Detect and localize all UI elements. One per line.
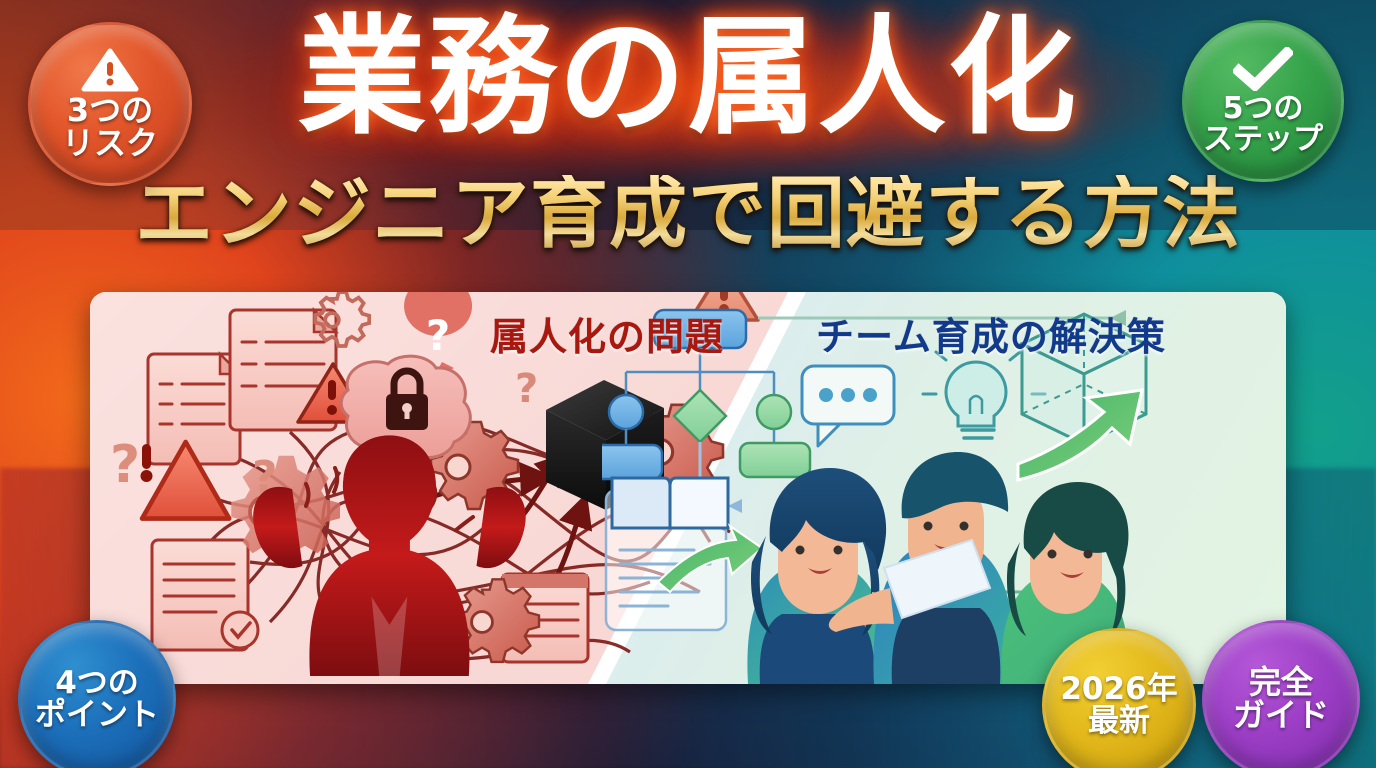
badge-step[interactable]: 5つの ステップ [1182,20,1344,182]
badge-risk-line1: 3つの [67,94,153,127]
badge-guide-line1: 完全 [1249,666,1313,699]
page-title: 業務の属人化 [0,14,1376,142]
badge-step-line2: ステップ [1203,124,1323,155]
badge-point-line2: ポイント [35,699,159,731]
badge-risk-line2: リスク [62,127,158,160]
problem-heading: 属人化の問題 [490,306,724,361]
badge-point[interactable]: 4つの ポイント [18,620,176,768]
page-subtitle: エンジニア育成で回避する方法 [0,175,1376,253]
badge-step-line1: 5つの [1223,93,1304,124]
question-mark-icon: ? [110,435,140,495]
plain-document-icon [152,540,258,650]
badge-year-line1: 2026年 [1060,673,1177,705]
badge-guide-line2: ガイド [1233,699,1329,732]
badge-risk[interactable]: 3つの リスク [28,22,192,186]
badge-point-line1: 4つの [55,667,139,699]
badge-guide[interactable]: 完全 ガイド [1202,620,1360,768]
warning-triangle-icon [81,48,139,92]
chat-bubble-icon [802,366,894,446]
check-icon [1233,47,1293,91]
comparison-panel: ? ? ? ? S. [90,292,1286,684]
svg-text:?: ? [426,311,450,360]
badge-year-line2: 最新 [1088,705,1150,737]
question-mark-icon-3: ? [515,366,538,412]
thumbnail-canvas: 業務の属人化 エンジニア育成で回避する方法 [0,0,1376,768]
checklist-document-icon [148,354,240,464]
solution-heading: チーム育成の解決策 [816,306,1166,361]
